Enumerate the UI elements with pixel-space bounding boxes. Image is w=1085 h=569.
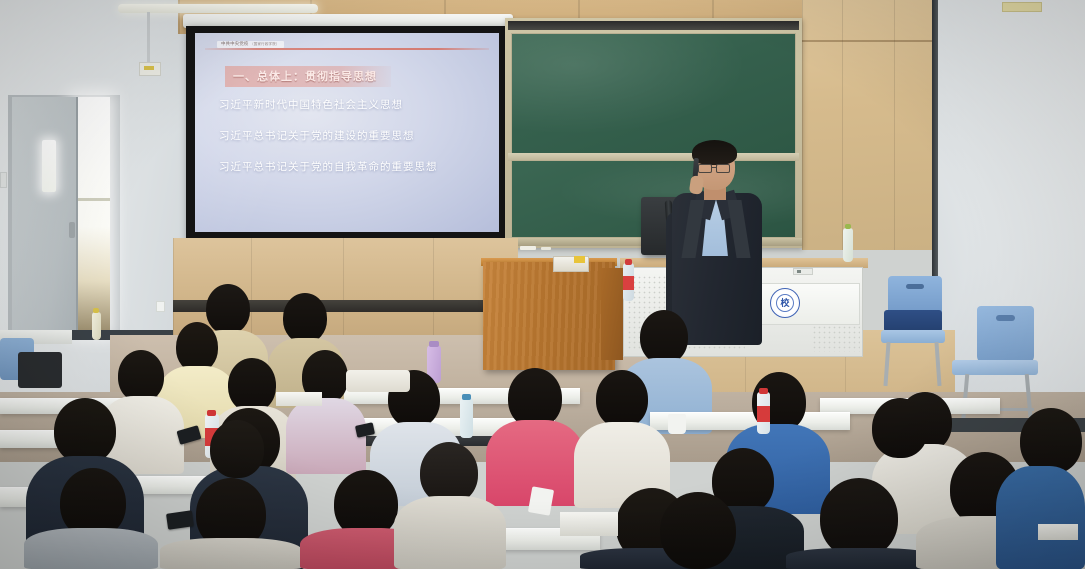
- attendee-mid-3-head: [228, 358, 276, 412]
- lecture-hall-photo: 中共中央党校 （国家行政学院） 一、总体上：贯彻指导思想 习近平新时代中国特色社…: [0, 0, 1085, 569]
- attendee-front-14-head: [872, 398, 928, 458]
- bottle-cap: [462, 394, 471, 400]
- lamp-conduit: [147, 12, 150, 64]
- attendee-mid-4-torso: [286, 398, 366, 474]
- slide-bullet-1: 习近平新时代中国特色社会主义思想: [219, 97, 487, 112]
- attendee-front-6-head: [420, 442, 478, 504]
- wall-outlet: [156, 301, 165, 312]
- door-vision-panel: [42, 140, 56, 192]
- stacking-chair-1-seat[interactable]: [881, 330, 945, 343]
- attendee-mid-2-head: [118, 350, 164, 402]
- attendee-front-7-head: [210, 420, 264, 478]
- slide-logo-main: 中共中央党校: [221, 41, 249, 46]
- blackboard-top-rail: [508, 21, 799, 30]
- chalk-piece: [541, 247, 551, 250]
- door-handle[interactable]: [69, 222, 75, 238]
- chair-handle-slot-icon: [906, 284, 924, 289]
- attendee-back-2-head: [283, 293, 327, 343]
- bottle-cap: [759, 388, 768, 394]
- attendee-front-10-head: [660, 492, 736, 569]
- conduit-label: [144, 66, 154, 70]
- bottle-cap: [93, 308, 99, 313]
- blackboard-upper-panel: [511, 33, 796, 155]
- stacking-chair-2-seat[interactable]: [952, 360, 1038, 375]
- attendee-front-1-head: [54, 398, 116, 464]
- smartphone-white[interactable]: [528, 486, 554, 515]
- open-notebook: [560, 512, 618, 536]
- slide-bullet-3: 习近平总书记关于党的自我革命的重要思想: [219, 159, 487, 174]
- open-notebook: [1038, 524, 1078, 540]
- water-bottle-clear: [460, 398, 473, 438]
- open-notebook: [276, 392, 322, 406]
- wall-sign: [1002, 2, 1042, 12]
- slide-rule: [205, 48, 489, 50]
- side-chair-dark[interactable]: [18, 352, 62, 388]
- slide-logo-sub: （国家行政学院）: [250, 42, 280, 46]
- bottle-cap: [625, 259, 632, 265]
- eyeglasses-bridge: [712, 167, 716, 168]
- eyeglasses-icon: [698, 164, 712, 173]
- slide-bullet-2: 习近平总书记关于党的建设的重要思想: [219, 128, 487, 143]
- cabinet-io-port[interactable]: [793, 268, 813, 275]
- thermos-cap: [429, 341, 439, 347]
- water-bottle-clear: [92, 312, 101, 340]
- projected-slide: 中共中央党校 （国家行政学院） 一、总体上：贯彻指导思想 习近平新时代中国特色社…: [195, 33, 499, 232]
- chair-handle-slot-icon: [996, 315, 1015, 321]
- attendee-front-4-torso: [160, 538, 302, 569]
- slide-title: 一、总体上：贯彻指导思想: [225, 66, 391, 87]
- cabinet-port-indicator: [797, 270, 801, 273]
- attendee-front-6-torso: [394, 496, 506, 569]
- bottle-cap: [207, 410, 216, 416]
- attendee-front-3-torso: [24, 528, 158, 569]
- attendee-front-13-head: [1020, 408, 1082, 474]
- bottle-label: [623, 276, 634, 290]
- attendee-front-13-torso: [996, 466, 1085, 569]
- chalk-piece: [520, 246, 536, 250]
- eyeglasses-icon: [716, 164, 730, 173]
- attendee-mid-6-head: [508, 368, 562, 428]
- chair-draped-cloth: [884, 310, 942, 332]
- slide-bullet-list: 习近平新时代中国特色社会主义思想 习近平总书记关于党的建设的重要思想 习近平总书…: [219, 97, 487, 190]
- attendee-mid-1-head: [176, 322, 218, 372]
- podium-emblem-panel: [748, 283, 860, 325]
- bottle-label: [757, 406, 770, 422]
- light-switch[interactable]: [0, 172, 7, 188]
- wood-panel-seam: [802, 40, 937, 42]
- classroom-door[interactable]: [12, 97, 78, 333]
- water-bottle-green-label: [843, 228, 853, 262]
- attendee-mid-7-head: [596, 370, 648, 428]
- attendee-back-3-head: [640, 310, 688, 364]
- attendee-front-11-head: [820, 478, 898, 558]
- bottle-cap: [845, 224, 851, 229]
- equipment-box-label: [574, 256, 585, 263]
- right-wood-panel: [802, 0, 937, 250]
- attendee-back-1-head: [206, 284, 250, 334]
- doorway-daylight: [74, 97, 110, 333]
- emblem-glyph: 校: [779, 297, 791, 309]
- lectern-side-panel: [601, 268, 623, 360]
- attendee-front-11-torso: [786, 548, 936, 569]
- draped-coat: [346, 370, 410, 392]
- doorway-mullion: [74, 198, 110, 201]
- lectern-wood-grain: [483, 262, 615, 370]
- paper-cup: [668, 414, 686, 434]
- slide-institution-logo: 中共中央党校 （国家行政学院）: [217, 41, 284, 48]
